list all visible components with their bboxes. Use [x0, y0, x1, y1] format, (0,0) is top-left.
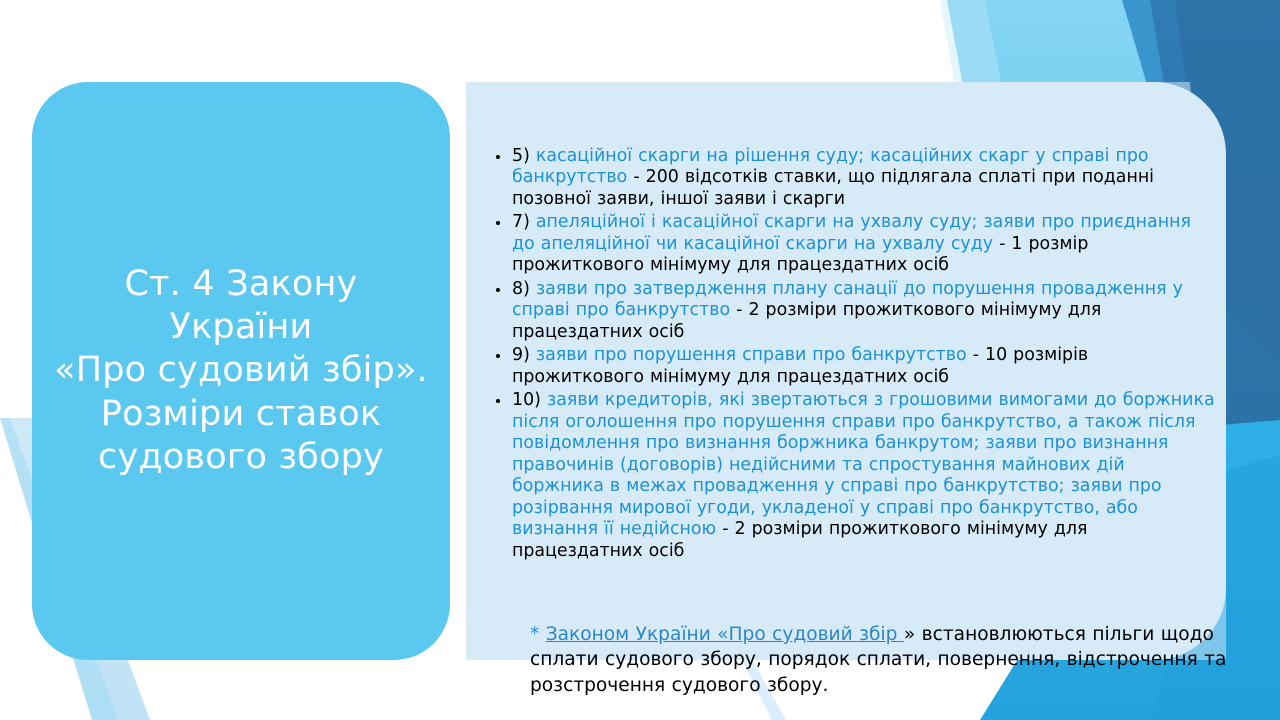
footnote-asterisk: * [530, 624, 546, 645]
page-title: Ст. 4 Закону України «Про судовий збір».… [50, 263, 432, 480]
bullet-highlight: апеляційної і касаційної скарги на ухвал… [512, 212, 1191, 253]
title-block: Ст. 4 Закону України «Про судовий збір».… [32, 82, 450, 660]
bullet-number: 7) [512, 212, 530, 232]
bullet-number: 5) [512, 146, 530, 166]
bullet-highlight: заяви про порушення справи про банкрутст… [536, 345, 967, 365]
bullet-highlight: заяви кредиторів, які звертаються з грош… [512, 390, 1215, 539]
list-item: 9) заяви про порушення справи про банкру… [492, 345, 1216, 388]
list-item: 10) заяви кредиторів, які звертаються з … [492, 390, 1216, 562]
list-item: 7) апеляційної і касаційної скарги на ух… [492, 212, 1216, 276]
bullet-number: 10) [512, 390, 541, 410]
bullet-number: 9) [512, 345, 530, 365]
bullet-list: 5) касаційної скарги на рішення суду; ка… [466, 146, 1230, 564]
law-link[interactable]: Законом України «Про судовий збір [546, 624, 904, 645]
presentation-slide: Ст. 4 Закону України «Про судовий збір».… [0, 0, 1280, 720]
list-item: 8) заяви про затвердження плану санації … [492, 279, 1216, 343]
list-item: 5) касаційної скарги на рішення суду; ка… [492, 146, 1216, 210]
bullet-number: 8) [512, 279, 530, 299]
footnote: * Законом України «Про судовий збір » вс… [530, 622, 1230, 698]
